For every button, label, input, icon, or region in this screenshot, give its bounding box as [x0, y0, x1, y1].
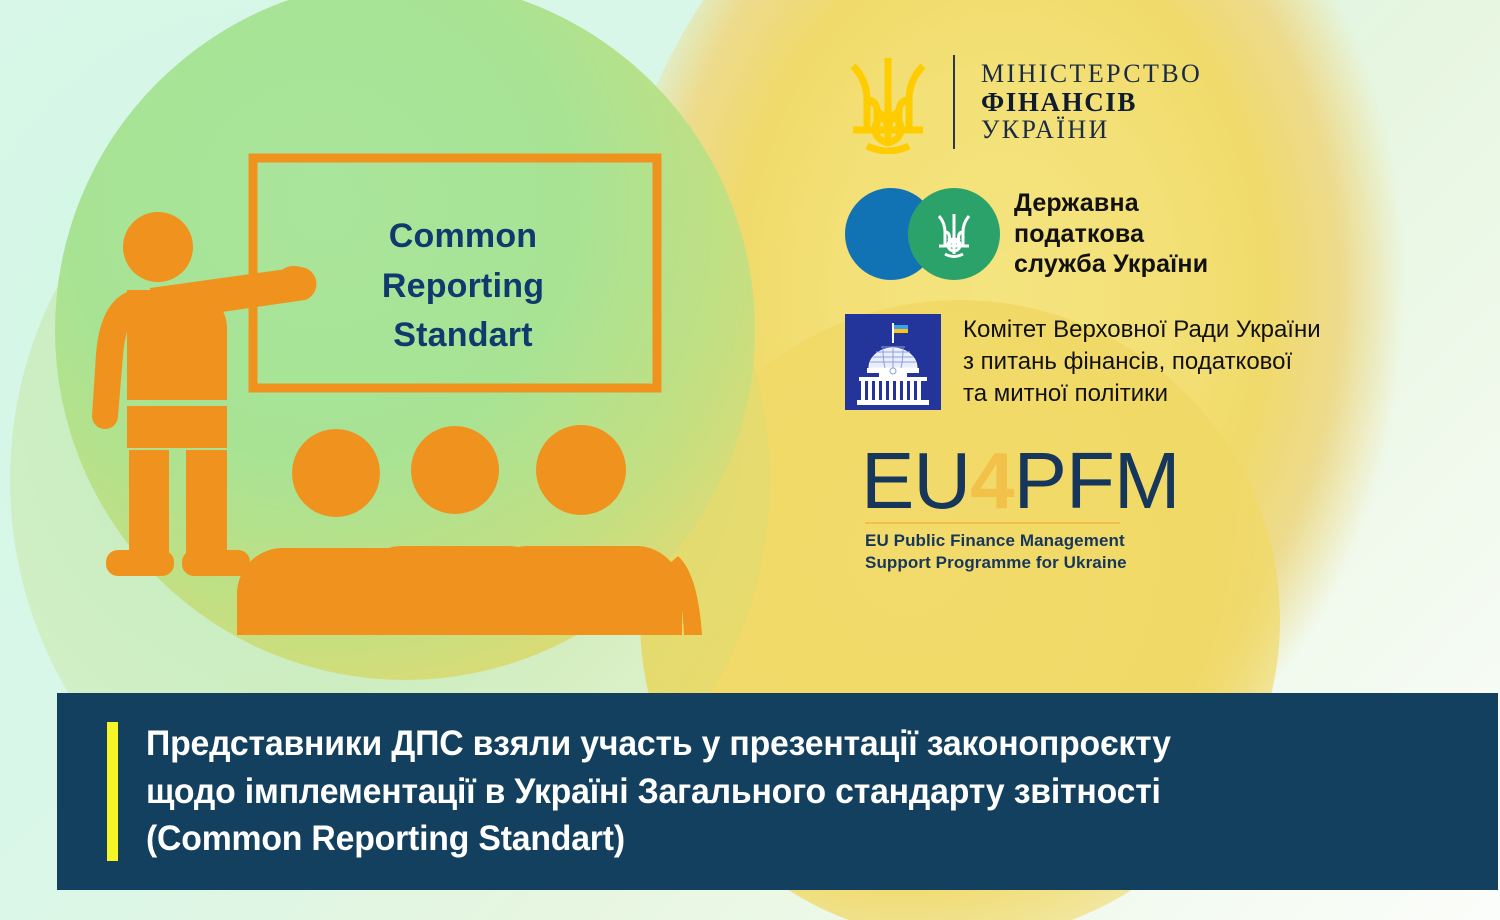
tax-service-marks	[845, 188, 1000, 280]
presenter-shoe-right	[182, 550, 250, 576]
presenter-head	[123, 212, 193, 282]
tax-line-2: податкова	[1014, 219, 1208, 250]
committee-line-3: та митної політики	[963, 378, 1321, 410]
tax-line-3: служба України	[1014, 249, 1208, 280]
eu4pfm-wordmark: EU4PFM	[861, 442, 1465, 520]
committee-line-2: з питань фінансів, податкової	[963, 346, 1321, 378]
trident-white-icon	[908, 188, 1000, 280]
audience-group	[237, 425, 702, 635]
eu4pfm-prefix: EU	[861, 436, 970, 525]
parliament-badge	[845, 314, 941, 410]
mof-line-1: МІНІСТЕРСТВО	[981, 60, 1202, 88]
logo-ministry-of-finance: МІНІСТЕРСТВО ФІНАНСІВ УКРАЇНИ	[845, 50, 1465, 154]
audience-head-1	[292, 429, 380, 517]
whiteboard-line-3: Standart	[258, 311, 668, 361]
audience-figure-3	[482, 425, 702, 635]
caption-accent-bar	[107, 722, 118, 861]
caption-line-3: (Common Reporting Standart)	[146, 815, 1171, 863]
presenter-leg-right	[186, 450, 227, 562]
eu4pfm-subtitle: EU Public Finance Management Support Pro…	[865, 530, 1465, 573]
mof-line-3: УКРАЇНИ	[981, 116, 1202, 144]
trident-icon	[845, 50, 931, 154]
caption-text: Представники ДПС взяли участь у презента…	[146, 720, 1171, 864]
whiteboard-text: Common Reporting Standart	[258, 212, 668, 361]
state-tax-service-text: Державна податкова служба України	[1014, 188, 1208, 280]
partner-logos: МІНІСТЕРСТВО ФІНАНСІВ УКРАЇНИ	[845, 50, 1465, 573]
caption-bar: Представники ДПС взяли участь у презента…	[57, 693, 1498, 890]
audience-head-3	[536, 425, 626, 515]
parliament-building-icon	[845, 314, 941, 410]
poster-canvas: Common Reporting Standart МІН	[0, 0, 1500, 920]
eu4pfm-subtitle-line-1: EU Public Finance Management	[865, 530, 1465, 551]
mof-line-2: ФІНАНСІВ	[981, 88, 1202, 117]
eu4pfm-accent-four: 4	[970, 436, 1014, 525]
logo-eu4pfm: EU4PFM EU Public Finance Management Supp…	[861, 442, 1465, 573]
logo-state-tax-service: Державна податкова служба України	[845, 188, 1465, 280]
presenter-leg-left	[129, 450, 169, 562]
committee-text: Комітет Верховної Ради України з питань …	[963, 314, 1321, 410]
eu4pfm-suffix: PFM	[1014, 436, 1180, 525]
committee-line-1: Комітет Верховної Ради України	[963, 314, 1321, 346]
tax-line-1: Державна	[1014, 188, 1208, 219]
whiteboard-line-2: Reporting	[258, 262, 668, 312]
caption-line-2: щодо імплементації в Україні Загального …	[146, 768, 1171, 816]
logo-verkhovna-rada-committee: Комітет Верховної Ради України з питань …	[845, 314, 1465, 410]
green-circle-icon	[908, 188, 1000, 280]
eu4pfm-subtitle-line-2: Support Programme for Ukraine	[865, 552, 1465, 573]
audience-head-2	[411, 426, 499, 514]
ministry-of-finance-text: МІНІСТЕРСТВО ФІНАНСІВ УКРАЇНИ	[981, 60, 1202, 144]
whiteboard-line-1: Common	[258, 212, 668, 262]
caption-line-1: Представники ДПС взяли участь у презента…	[146, 720, 1171, 768]
logo-divider	[953, 55, 955, 149]
presenter-shoe-left	[106, 550, 174, 576]
presenter-hips	[127, 406, 227, 448]
presenter-torso	[127, 290, 227, 400]
